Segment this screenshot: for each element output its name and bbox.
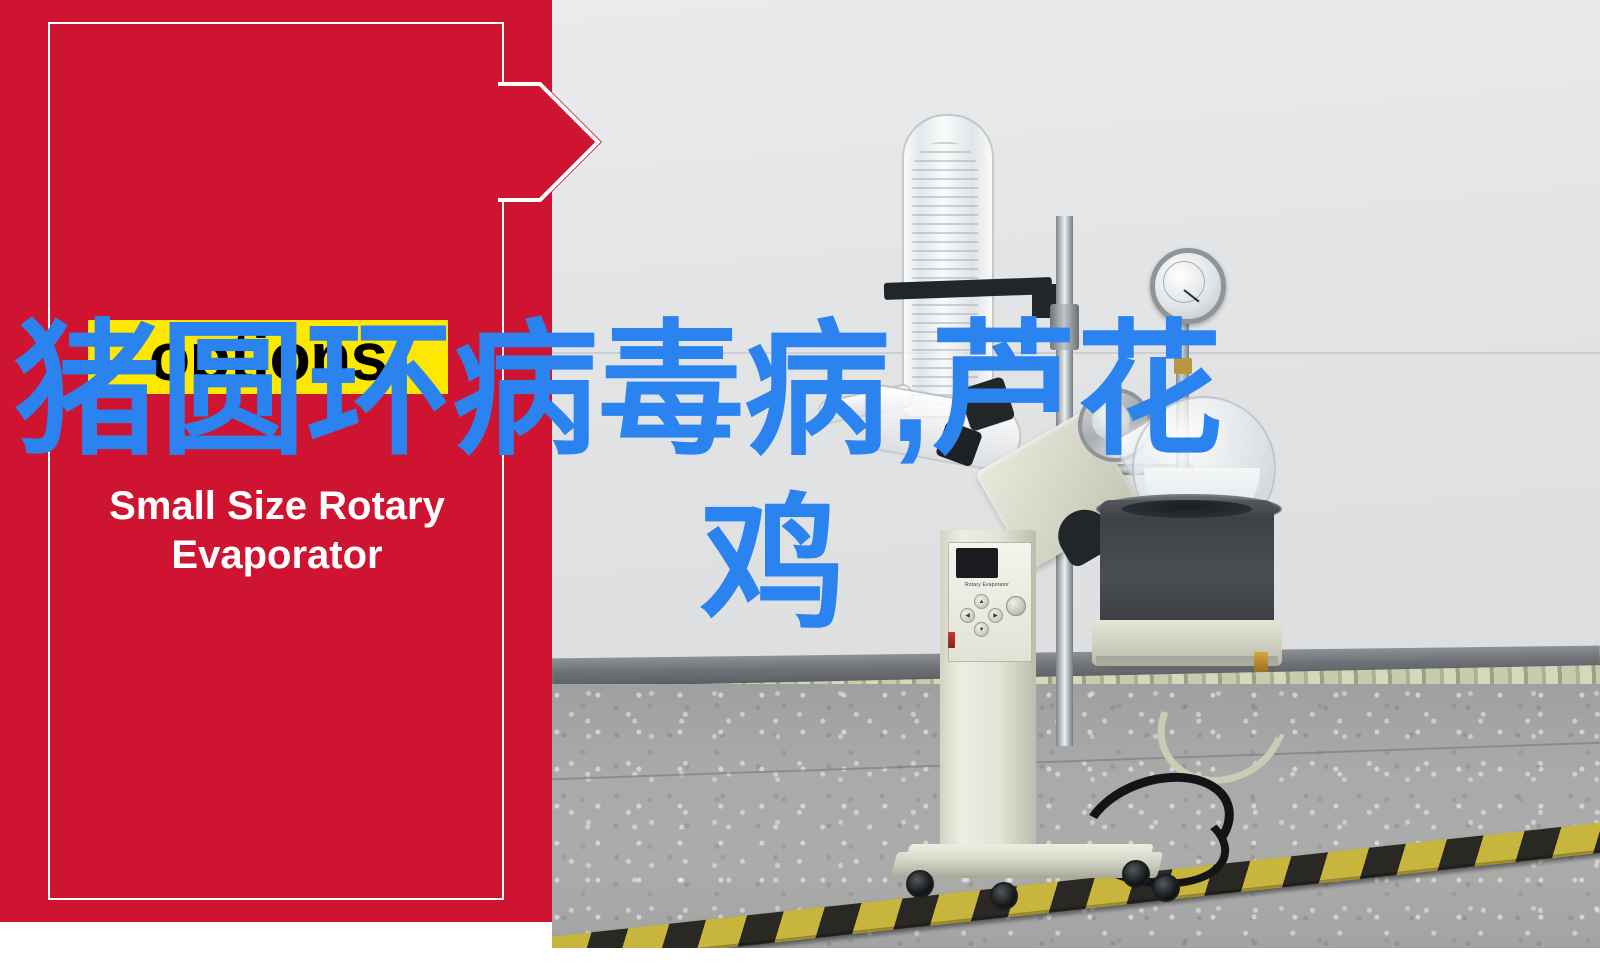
dpad-up-button[interactable]: ▲	[974, 594, 989, 609]
gauge-needle	[1183, 289, 1199, 302]
water-bath-inner	[1122, 500, 1252, 518]
banner-stage: Rotary Evaporator ▲ ◀ ▶ ▼	[0, 0, 1600, 978]
dpad-down-button[interactable]: ▼	[974, 622, 989, 637]
caster-wheel	[990, 882, 1018, 910]
chevron-right-icon	[480, 82, 610, 202]
machine-base-upper	[902, 844, 1153, 874]
yellow-highlight-text: options	[88, 320, 448, 394]
control-panel-display	[956, 548, 998, 578]
brass-drain-fitting	[1254, 652, 1268, 672]
condenser-coil	[912, 142, 978, 404]
red-title-panel	[0, 0, 552, 922]
rotary-evaporator-machine: Rotary Evaporator ▲ ◀ ▶ ▼	[882, 96, 1302, 846]
water-bath	[1100, 500, 1274, 630]
pressure-gauge	[1150, 248, 1226, 324]
dpad-left-button[interactable]: ◀	[960, 608, 975, 623]
caster-wheel	[906, 870, 934, 898]
caption-line-1: Small Size Rotary	[48, 482, 506, 531]
post-collar-upper	[1050, 304, 1079, 350]
caption-line-2: Evaporator	[48, 531, 506, 580]
dpad-right-button[interactable]: ▶	[988, 608, 1003, 623]
control-panel-knob[interactable]	[1006, 596, 1026, 616]
product-caption: Small Size Rotary Evaporator	[48, 482, 506, 580]
power-switch[interactable]	[948, 632, 955, 648]
control-panel-label: Rotary Evaporator	[952, 582, 1022, 588]
panel-inner-border	[48, 22, 504, 900]
gauge-face	[1163, 261, 1205, 303]
gauge-brass-nut	[1174, 358, 1192, 374]
caster-wheel	[1152, 874, 1180, 902]
control-panel-dpad: ▲ ◀ ▶ ▼	[960, 594, 1002, 636]
product-photo: Rotary Evaporator ▲ ◀ ▶ ▼	[552, 0, 1600, 948]
caster-wheel	[1122, 860, 1150, 888]
